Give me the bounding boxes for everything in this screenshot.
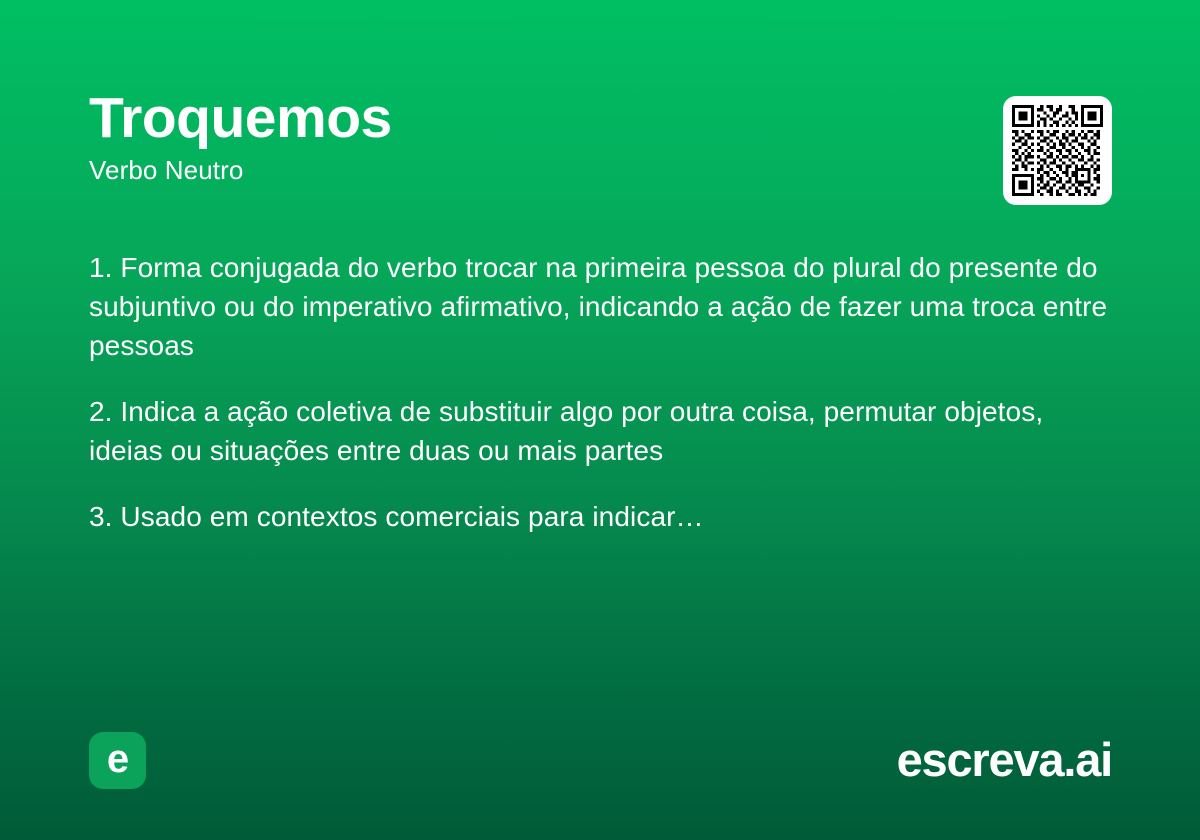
brand-wordmark: escreva.ai	[897, 734, 1112, 786]
qr-code-icon	[1012, 105, 1103, 196]
word-title: Troquemos	[89, 86, 1112, 150]
qr-code-panel[interactable]	[1003, 96, 1112, 205]
logo-letter: e	[107, 739, 128, 779]
dictionary-card: Troquemos Verbo Neutro	[0, 0, 1200, 840]
definition-item: 2. Indica a ação coletiva de substituir …	[89, 392, 1119, 470]
card-header: Troquemos Verbo Neutro	[89, 86, 1112, 186]
card-footer: e escreva.ai	[89, 731, 1112, 789]
escreva-logo-icon: e	[89, 732, 146, 789]
word-class-subtitle: Verbo Neutro	[89, 154, 1112, 186]
definitions-list: 1. Forma conjugada do verbo trocar na pr…	[89, 248, 1119, 536]
definition-item: 1. Forma conjugada do verbo trocar na pr…	[89, 248, 1119, 365]
definition-item: 3. Usado em contextos comerciais para in…	[89, 497, 1119, 536]
